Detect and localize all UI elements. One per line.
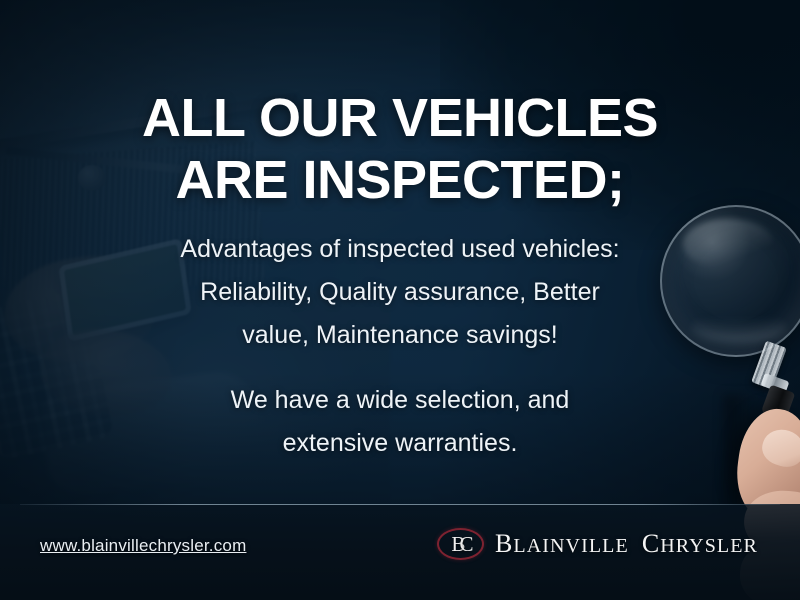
headline-line-2: ARE INSPECTED; (70, 150, 730, 212)
body-paragraph-2-line-1: We have a wide selection, and (120, 379, 680, 422)
paragraph-spacer (120, 357, 680, 379)
logo-chrysler-initial: C (642, 529, 660, 558)
monogram-letters: BC (437, 528, 484, 560)
logo-word-blainville: BLAINVILLE (495, 529, 629, 558)
footer-divider (20, 504, 780, 505)
body-paragraph-2-line-2: extensive warranties. (120, 422, 680, 465)
dealership-name: BLAINVILLECHRYSLER (495, 531, 758, 557)
banner-content: ALL OUR VEHICLES ARE INSPECTED; Advantag… (0, 0, 800, 600)
headline-line-1: ALL OUR VEHICLES (70, 88, 730, 150)
logo-blainville-rest: LAINVILLE (513, 535, 628, 557)
logo-blainville-initial: B (495, 529, 513, 558)
promo-banner: ALL OUR VEHICLES ARE INSPECTED; Advantag… (0, 0, 800, 600)
body-paragraph-2: We have a wide selection, and extensive … (120, 379, 680, 465)
page-title: ALL OUR VEHICLES ARE INSPECTED; (0, 88, 800, 211)
monogram-letter-c: C (459, 534, 470, 555)
body-paragraph-1: Advantages of inspected used vehicles: R… (120, 228, 680, 357)
logo-word-chrysler: CHRYSLER (642, 529, 758, 558)
body-paragraph-1-line-3: value, Maintenance savings! (120, 314, 680, 357)
body-paragraph-1-line-2: Reliability, Quality assurance, Better (120, 271, 680, 314)
website-url-link[interactable]: www.blainvillechrysler.com (40, 536, 246, 556)
dealership-logo[interactable]: BC BLAINVILLECHRYSLER (437, 528, 758, 560)
logo-chrysler-rest: HRYSLER (660, 535, 758, 557)
body-copy: Advantages of inspected used vehicles: R… (0, 228, 800, 465)
bc-monogram-icon: BC (437, 528, 484, 560)
body-paragraph-1-line-1: Advantages of inspected used vehicles: (120, 228, 680, 271)
